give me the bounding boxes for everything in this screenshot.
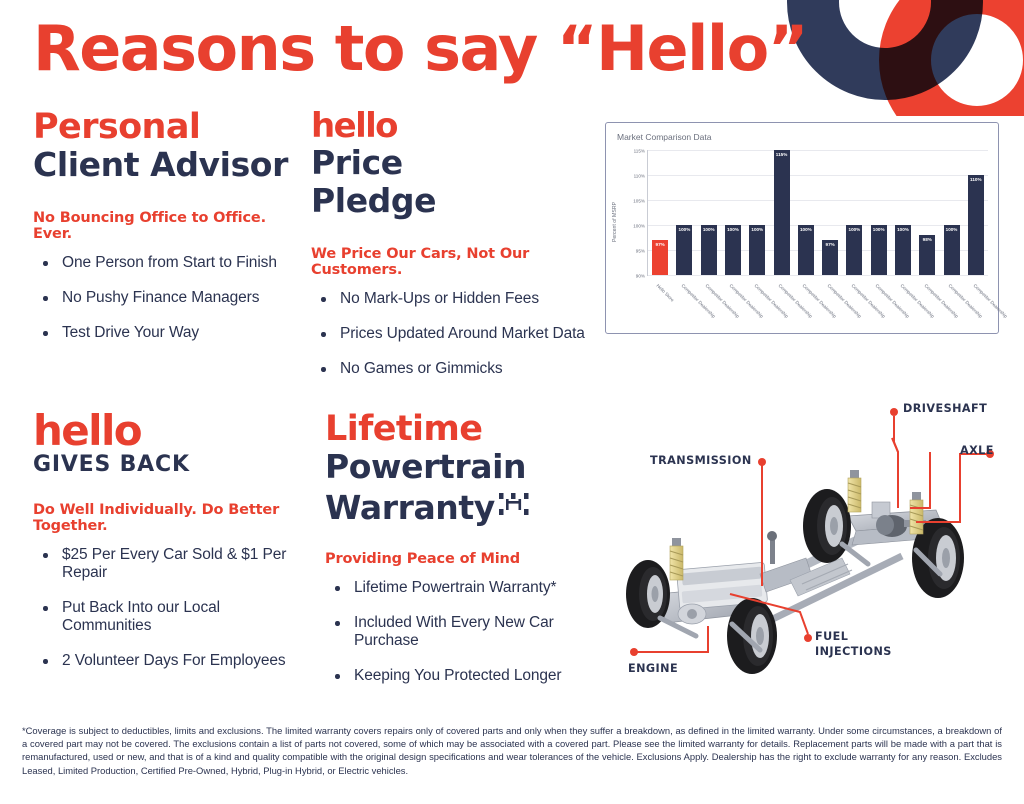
chart-bar-slot: 100% (891, 150, 915, 275)
panel-subheadline: Do Well Individually. Do Better Together… (33, 502, 308, 534)
chart-x-label-slot: Competitor Dealership (891, 281, 915, 333)
heading-line-1: Personal (33, 108, 298, 146)
label-injections: INJECTIONS (815, 645, 892, 659)
heading-line-2: Client Advisor (33, 146, 298, 184)
chart-bar-value-label: 100% (849, 227, 861, 232)
chart-bar: 100% (944, 225, 960, 275)
chart-x-axis-labels: Hello StoreCompetitor DealershipCompetit… (647, 281, 988, 333)
label-axle: AXLE (960, 444, 994, 458)
chart-plot-area: 90%95%100%105%110%115% 97%100%100%100%10… (647, 150, 988, 276)
chart-bar-slot: 100% (672, 150, 696, 275)
chart-bar-value-label: 110% (970, 177, 982, 182)
list-item: $25 Per Every Car Sold & $1 Per Repair (33, 546, 308, 582)
list-item: One Person from Start to Finish (33, 254, 298, 272)
panel-heading: Personal Client Advisor (33, 108, 298, 184)
chart-x-label-slot: Competitor Dealership (915, 281, 939, 333)
chart-x-label-slot: Competitor Dealership (696, 281, 720, 333)
chart-y-tick-label: 110% (634, 174, 645, 179)
bullet-list: One Person from Start to Finish No Pushy… (33, 254, 298, 342)
chart-bar-value-label: 115% (776, 152, 788, 157)
chart-x-label-slot: Competitor Dealership (744, 281, 768, 333)
chart-bar-value-label: 97% (826, 242, 835, 247)
chart-x-label-slot: Competitor Dealership (793, 281, 817, 333)
bullet-list: Lifetime Powertrain Warranty* Included W… (325, 579, 610, 685)
chart-bar-value-label: 100% (946, 227, 958, 232)
chart-bar: 100% (676, 225, 692, 275)
chart-bar-slot: 100% (721, 150, 745, 275)
chart-bar: 100% (749, 225, 765, 275)
panel-lifetime-powertrain-warranty: Lifetime Powertrain Warranty (325, 410, 610, 702)
chart-x-label-slot: Hello Store (647, 281, 671, 333)
legal-footnote: *Coverage is subject to deductibles, lim… (22, 724, 1002, 777)
list-item: Lifetime Powertrain Warranty* (325, 579, 610, 597)
chart-y-tick-label: 105% (633, 199, 645, 204)
chart-bar: 100% (895, 225, 911, 275)
heading-line-2: Price (311, 144, 596, 182)
chart-bar-value-label: 97% (656, 242, 665, 247)
list-item: Put Back Into our Local Communities (33, 599, 308, 635)
chart-bar-slot: 97% (818, 150, 842, 275)
chart-x-label-slot: Competitor Dealership (939, 281, 963, 333)
chart-bar: 97% (822, 240, 838, 275)
chart-bar: 100% (846, 225, 862, 275)
chart-bar-value-label: 100% (703, 227, 715, 232)
chart-bar-value-label: 100% (727, 227, 739, 232)
chart-bar-value-label: 100% (751, 227, 763, 232)
heading-line-3-row: Warranty (325, 486, 610, 527)
panel-heading: hello GIVES BACK (33, 410, 308, 478)
label-transmission: TRANSMISSION (650, 454, 752, 468)
heading-line-2: Powertrain (325, 448, 610, 486)
chart-bar-slot: 100% (794, 150, 818, 275)
market-comparison-chart: Market Comparison Data Percent of MSRP 9… (605, 122, 999, 334)
chart-bar: 100% (871, 225, 887, 275)
chart-bar-slot: 110% (964, 150, 988, 275)
list-item: Prices Updated Around Market Data (311, 325, 596, 343)
chart-bar-slot: 100% (939, 150, 963, 275)
panel-subheadline: We Price Our Cars, Not Our Customers. (311, 246, 596, 278)
list-item: No Mark-Ups or Hidden Fees (311, 290, 596, 308)
panel-subheadline: No Bouncing Office to Office. Ever. (33, 210, 298, 242)
chart-bar-slot: 100% (842, 150, 866, 275)
navy-ring-icon (787, 0, 983, 100)
chart-bar: 110% (968, 175, 984, 275)
red-ring-icon (879, 0, 1024, 116)
chart-y-tick-label: 115% (634, 149, 645, 154)
chart-gridline: 90% (648, 275, 988, 276)
hello-logo: hello (311, 108, 596, 144)
chart-x-label-slot: Competitor Dealership (671, 281, 695, 333)
heading-line-1: Lifetime (325, 410, 610, 448)
list-item: Included With Every New Car Purchase (325, 614, 610, 650)
logo-subtitle: GIVES BACK (33, 452, 308, 478)
chart-y-tick-label: 95% (636, 249, 645, 254)
chart-x-label-slot: Competitor Dealership (720, 281, 744, 333)
panel-heading: hello Price Pledge (311, 108, 596, 220)
bullet-list: No Mark-Ups or Hidden Fees Prices Update… (311, 290, 596, 378)
chart-bars: 97%100%100%100%100%115%100%97%100%100%10… (648, 150, 988, 275)
chart-bar-slot: 100% (697, 150, 721, 275)
chart-bar-slot: 100% (867, 150, 891, 275)
page-root: Reasons to say “Hello” Personal Client A… (0, 0, 1024, 804)
heading-line-3: Warranty (325, 489, 495, 527)
chassis-diagram: DRIVESHAFT AXLE TRANSMISSION FUEL INJECT… (620, 398, 1020, 690)
chart-bar-value-label: 100% (873, 227, 885, 232)
chart-y-axis-label: Percent of MSRP (612, 192, 618, 252)
chart-bar-slot: 97% (648, 150, 672, 275)
chart-bar-value-label: 98% (923, 237, 932, 242)
panel-hello-price-pledge: hello Price Pledge We Price Our Cars, No… (311, 108, 596, 395)
chart-bar-value-label: 100% (679, 227, 691, 232)
chart-bar: 100% (725, 225, 741, 275)
label-engine: ENGINE (628, 662, 678, 676)
chart-bar: 98% (919, 235, 935, 275)
chart-x-tick-label: Competitor Dealership (972, 283, 1008, 319)
chart-bar: 100% (798, 225, 814, 275)
label-fuel: FUEL (815, 630, 848, 644)
list-item: No Games or Gimmicks (311, 360, 596, 378)
list-item: 2 Volunteer Days For Employees (33, 652, 308, 670)
bullet-list: $25 Per Every Car Sold & $1 Per Repair P… (33, 546, 308, 670)
chart-bar: 97% (652, 240, 668, 275)
chart-bar-slot: 100% (745, 150, 769, 275)
list-item: Keeping You Protected Longer (325, 667, 610, 685)
label-driveshaft: DRIVESHAFT (903, 402, 987, 416)
heading-line-3: Pledge (311, 182, 596, 220)
list-item: Test Drive Your Way (33, 324, 298, 342)
chassis-axle-icon (499, 486, 529, 524)
chart-x-label-slot: Competitor Dealership (769, 281, 793, 333)
chart-title: Market Comparison Data (617, 132, 711, 142)
hello-logo: hello (33, 410, 308, 452)
chart-x-label-slot: Competitor Dealership (818, 281, 842, 333)
chart-bar: 100% (701, 225, 717, 275)
chart-bar: 115% (774, 150, 790, 275)
chart-x-label-slot: Competitor Dealership (866, 281, 890, 333)
chart-y-tick-label: 100% (633, 224, 645, 229)
chart-x-label-slot: Competitor Dealership (964, 281, 988, 333)
list-item: No Pushy Finance Managers (33, 289, 298, 307)
chart-bar-slot: 115% (769, 150, 793, 275)
chart-x-label-slot: Competitor Dealership (842, 281, 866, 333)
chart-bar-slot: 98% (915, 150, 939, 275)
panel-hello-gives-back: hello GIVES BACK Do Well Individually. D… (33, 410, 308, 687)
chart-bar-value-label: 100% (800, 227, 812, 232)
panel-personal-client-advisor: Personal Client Advisor No Bouncing Offi… (33, 108, 298, 359)
chart-bar-value-label: 100% (897, 227, 909, 232)
panel-heading: Lifetime Powertrain Warranty (325, 410, 610, 527)
panel-subheadline: Providing Peace of Mind (325, 551, 610, 567)
chart-y-tick-label: 90% (636, 274, 645, 279)
page-title: Reasons to say “Hello” (33, 14, 807, 84)
